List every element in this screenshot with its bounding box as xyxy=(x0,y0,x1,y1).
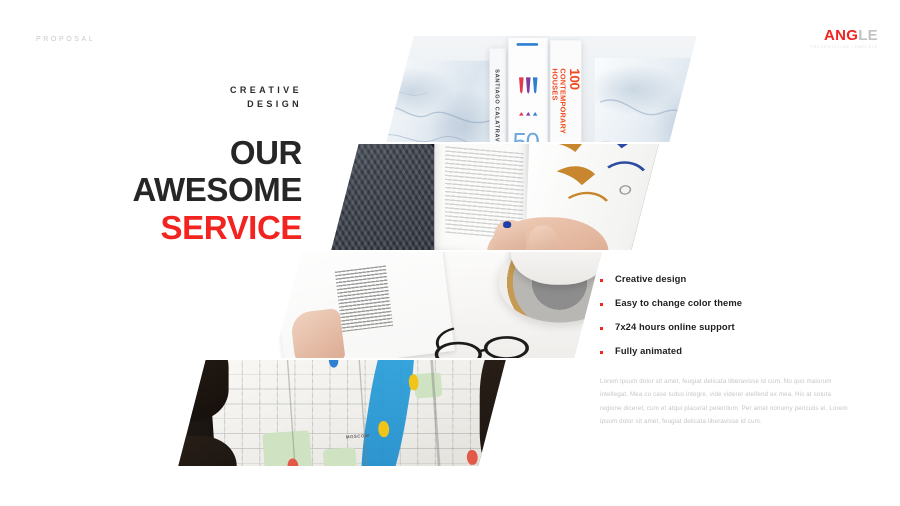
photo-books-on-marble: SANTIAGO CALATRAVA 50 Decorative Art 100… xyxy=(386,36,696,142)
list-item[interactable]: Fully animated xyxy=(600,346,850,355)
list-item[interactable]: 7x24 hours online support xyxy=(600,322,850,331)
hand-right xyxy=(480,360,506,466)
brand-logo[interactable]: ANGLE PRESENTATION TEMPLATE xyxy=(811,28,879,49)
eyebrow-line-2: DESIGN xyxy=(247,99,302,109)
photo-hand-holding-magazine xyxy=(331,144,658,250)
photo-panel-map[interactable]: MOSCOW xyxy=(178,360,505,466)
feature-label: 7x24 hours online support xyxy=(615,322,735,331)
list-item[interactable]: Easy to change color theme xyxy=(600,298,850,307)
map-street-grid xyxy=(207,360,506,466)
slide-kicker: PROPOSAL xyxy=(36,36,95,43)
magazine-body-text xyxy=(335,265,393,331)
knit-fabric xyxy=(331,144,446,250)
magazine-photo-detail xyxy=(289,307,346,358)
logo-tagline: PRESENTATION TEMPLATE xyxy=(811,46,879,49)
list-item[interactable]: Creative design xyxy=(600,274,850,283)
marble-vein-right xyxy=(595,58,697,142)
glassware-illustration xyxy=(513,76,542,120)
logo-wordmark: ANGLE xyxy=(811,28,879,43)
feature-label: Easy to change color theme xyxy=(615,298,742,307)
photo-panel-books[interactable]: SANTIAGO CALATRAVA 50 Decorative Art 100… xyxy=(386,36,696,142)
marble-vein-left xyxy=(386,60,495,142)
eyebrow-line-1: CREATIVE xyxy=(230,85,302,95)
feature-label: Fully animated xyxy=(615,346,682,355)
bullet-square-icon xyxy=(600,279,603,282)
bullet-square-icon xyxy=(600,303,603,306)
book-line-contemporary: CONTEMPORARY xyxy=(558,68,566,134)
feature-label: Creative design xyxy=(615,274,686,283)
book-cover-50-decorative-art: 50 Decorative Art xyxy=(508,37,548,142)
logo-word-accent: ANG xyxy=(824,27,858,44)
book-cover-100-contemporary-houses: 100 CONTEMPORARY HOUSES xyxy=(550,40,581,142)
book-spine-calatrava: SANTIAGO CALATRAVA xyxy=(490,49,506,142)
bullet-square-icon xyxy=(600,327,603,330)
book-spine-calatrava-label: SANTIAGO CALATRAVA xyxy=(495,69,502,142)
section-eyebrow: CREATIVE DESIGN xyxy=(90,84,302,112)
book-title-50: 50 xyxy=(513,130,539,142)
marble-block-right xyxy=(595,58,697,142)
painted-fingernail xyxy=(504,221,512,228)
logo-word-muted: LE xyxy=(858,27,878,44)
feature-list: Creative design Easy to change color the… xyxy=(600,274,850,370)
finger-index xyxy=(494,220,526,250)
finger-middle xyxy=(528,226,557,250)
marble-block-left xyxy=(386,60,495,142)
slide-canvas: PROPOSAL ANGLE PRESENTATION TEMPLATE CRE… xyxy=(0,0,900,506)
photo-hands-holding-map: MOSCOW xyxy=(178,360,505,466)
bullet-square-icon xyxy=(600,351,603,354)
title-line-2: AWESOME xyxy=(20,171,302,208)
map-marker-yellow-2 xyxy=(378,422,389,438)
book-top-band xyxy=(516,43,538,46)
page-title: OUR AWESOME SERVICE xyxy=(20,134,302,246)
body-paragraph: Lorem ipsum dolor sit amet, feugiat deli… xyxy=(600,375,850,428)
magazine-top-cover: R xyxy=(274,252,454,358)
photo-magazines-on-desk: R xyxy=(274,252,601,358)
book-spine-contemporary-houses-label: 100 CONTEMPORARY HOUSES xyxy=(550,68,581,134)
map-park-area-2 xyxy=(323,448,358,466)
book-number-100: 100 xyxy=(566,68,581,134)
book-line-houses: HOUSES xyxy=(550,68,558,100)
photo-panel-desk[interactable]: R xyxy=(274,252,601,358)
eyeglasses xyxy=(430,325,539,358)
title-line-3-accent: SERVICE xyxy=(20,209,302,246)
map-park-area-1 xyxy=(262,430,313,466)
photo-panel-magazine[interactable] xyxy=(331,144,658,250)
title-line-1: OUR xyxy=(20,134,302,171)
paper-map: MOSCOW xyxy=(207,360,506,466)
